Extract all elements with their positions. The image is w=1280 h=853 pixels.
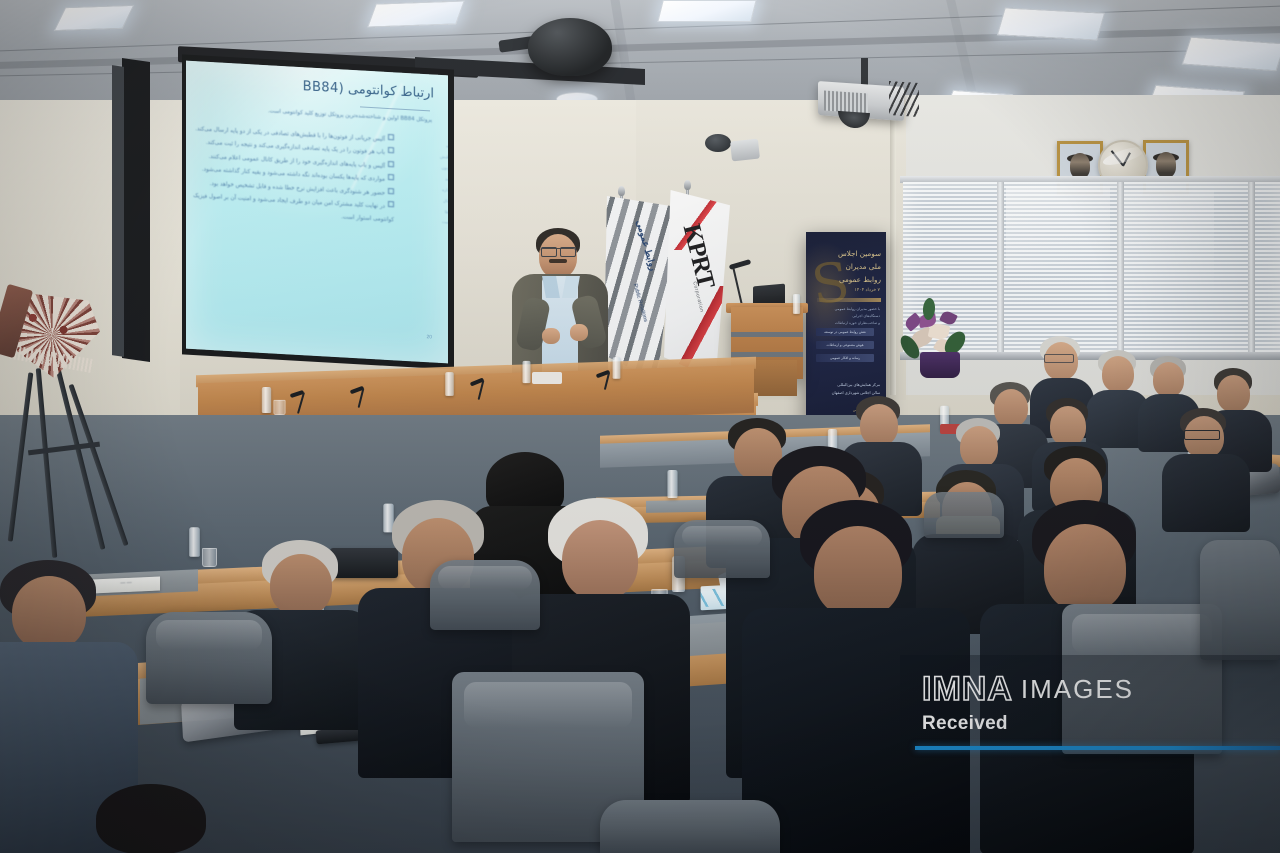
dome-camera — [705, 134, 731, 152]
banner-chip: هوش مصنوعی و ارتباطات — [816, 341, 874, 349]
banner-divider — [817, 298, 881, 302]
window-mullion — [1117, 182, 1124, 357]
hand-left — [542, 328, 560, 344]
watermark: IMNA IMAGES Received — [922, 672, 1134, 735]
projector-vent — [824, 90, 868, 113]
screen-board-left — [122, 58, 150, 362]
banner-chip: نقش روابط عمومی در توسعه — [816, 328, 874, 336]
wall-corner — [890, 95, 896, 395]
banner-chip: رسانه و افکار عمومی — [816, 354, 874, 362]
chair[interactable] — [924, 492, 1004, 538]
banner-title-line: ملی مدیران — [825, 261, 881, 274]
drinking-glass — [274, 400, 286, 415]
flag-finial — [684, 180, 691, 190]
flower-vase — [920, 352, 960, 378]
watermark-status: Received — [922, 713, 1134, 735]
banner-date: ۷ خرداد ۱۴۰۴ — [826, 287, 880, 293]
chair[interactable] — [1200, 540, 1280, 660]
water-bottle — [189, 527, 200, 557]
bullet-marker — [388, 147, 394, 153]
banner-venue: مرکز همایش‌های بین‌المللیسالن اجلاس شهرد… — [816, 382, 880, 397]
laptop-bag — [330, 548, 398, 578]
ceiling-speaker — [528, 18, 612, 76]
banner-subtitle: با حضور مدیران روابط عمومی دستگاه‌های اج… — [818, 306, 880, 326]
bullet-marker — [388, 161, 394, 167]
hand-right — [570, 324, 588, 341]
banner-subtitle-line: با حضور مدیران روابط عمومی دستگاه‌های اج… — [818, 306, 880, 320]
slide-side-note: امنیت — [416, 216, 448, 229]
chair[interactable] — [674, 520, 770, 578]
watermark-brand: IMNA — [922, 672, 1013, 706]
water-bottle — [262, 387, 271, 413]
chair[interactable] — [600, 800, 780, 853]
flag-finial — [618, 186, 625, 196]
chair[interactable] — [146, 612, 272, 704]
slide-side-notes: پایهقطبشفوتونکلیداندازهکانالخطاامنیت — [416, 140, 448, 229]
drinking-glass — [202, 548, 217, 567]
projector-cables — [889, 81, 919, 117]
projection-screen: ارتباط کوانتومی (BB84 پروتکل BB84 اولین … — [186, 61, 448, 364]
bullet-marker — [388, 134, 394, 140]
water-bottle — [667, 470, 677, 498]
podium-band — [731, 332, 803, 337]
wall-speaker — [730, 139, 760, 162]
water-bottle — [445, 372, 454, 396]
slide-page-number: 20 — [426, 334, 432, 340]
slide-bullet-list: آلیس جریانی از فوتون‌ها را با قطبش‌های ت… — [186, 122, 434, 230]
screen-board-rail — [112, 65, 124, 357]
ceiling-light — [997, 7, 1105, 40]
bullet-marker — [388, 201, 394, 207]
watermark-accent-bar — [915, 746, 1280, 750]
banner-title-line: سومین اجلاس — [825, 248, 881, 261]
moustache — [549, 259, 567, 263]
water-bottle — [613, 357, 621, 379]
window-mullion — [997, 182, 1004, 357]
watermark-suffix: IMAGES — [1021, 676, 1134, 702]
banner-title-line: روابط عمومی — [825, 274, 881, 287]
window-mullion — [1248, 182, 1255, 357]
water-bottle — [793, 294, 800, 314]
banner-subtitle-line: و صاحب‌نظران حوزه ارتباطات — [818, 320, 880, 327]
water-bottle — [522, 361, 530, 383]
chair[interactable] — [430, 560, 540, 630]
ceiling-light — [367, 0, 465, 27]
bullet-marker — [388, 188, 394, 194]
window-glare — [1006, 186, 1110, 272]
banner-title: سومین اجلاسملی مدیرانروابط عمومی — [825, 248, 881, 287]
ceiling-light — [54, 5, 135, 31]
window-glare — [1124, 190, 1214, 300]
bullet-marker — [388, 174, 394, 180]
papers — [532, 372, 562, 384]
ceiling-light — [657, 0, 756, 22]
conference-hall-photo: ارتباط کوانتومی (BB84 پروتکل BB84 اولین … — [0, 0, 1280, 853]
banner-venue-line: مرکز همایش‌های بین‌المللی — [816, 382, 880, 390]
